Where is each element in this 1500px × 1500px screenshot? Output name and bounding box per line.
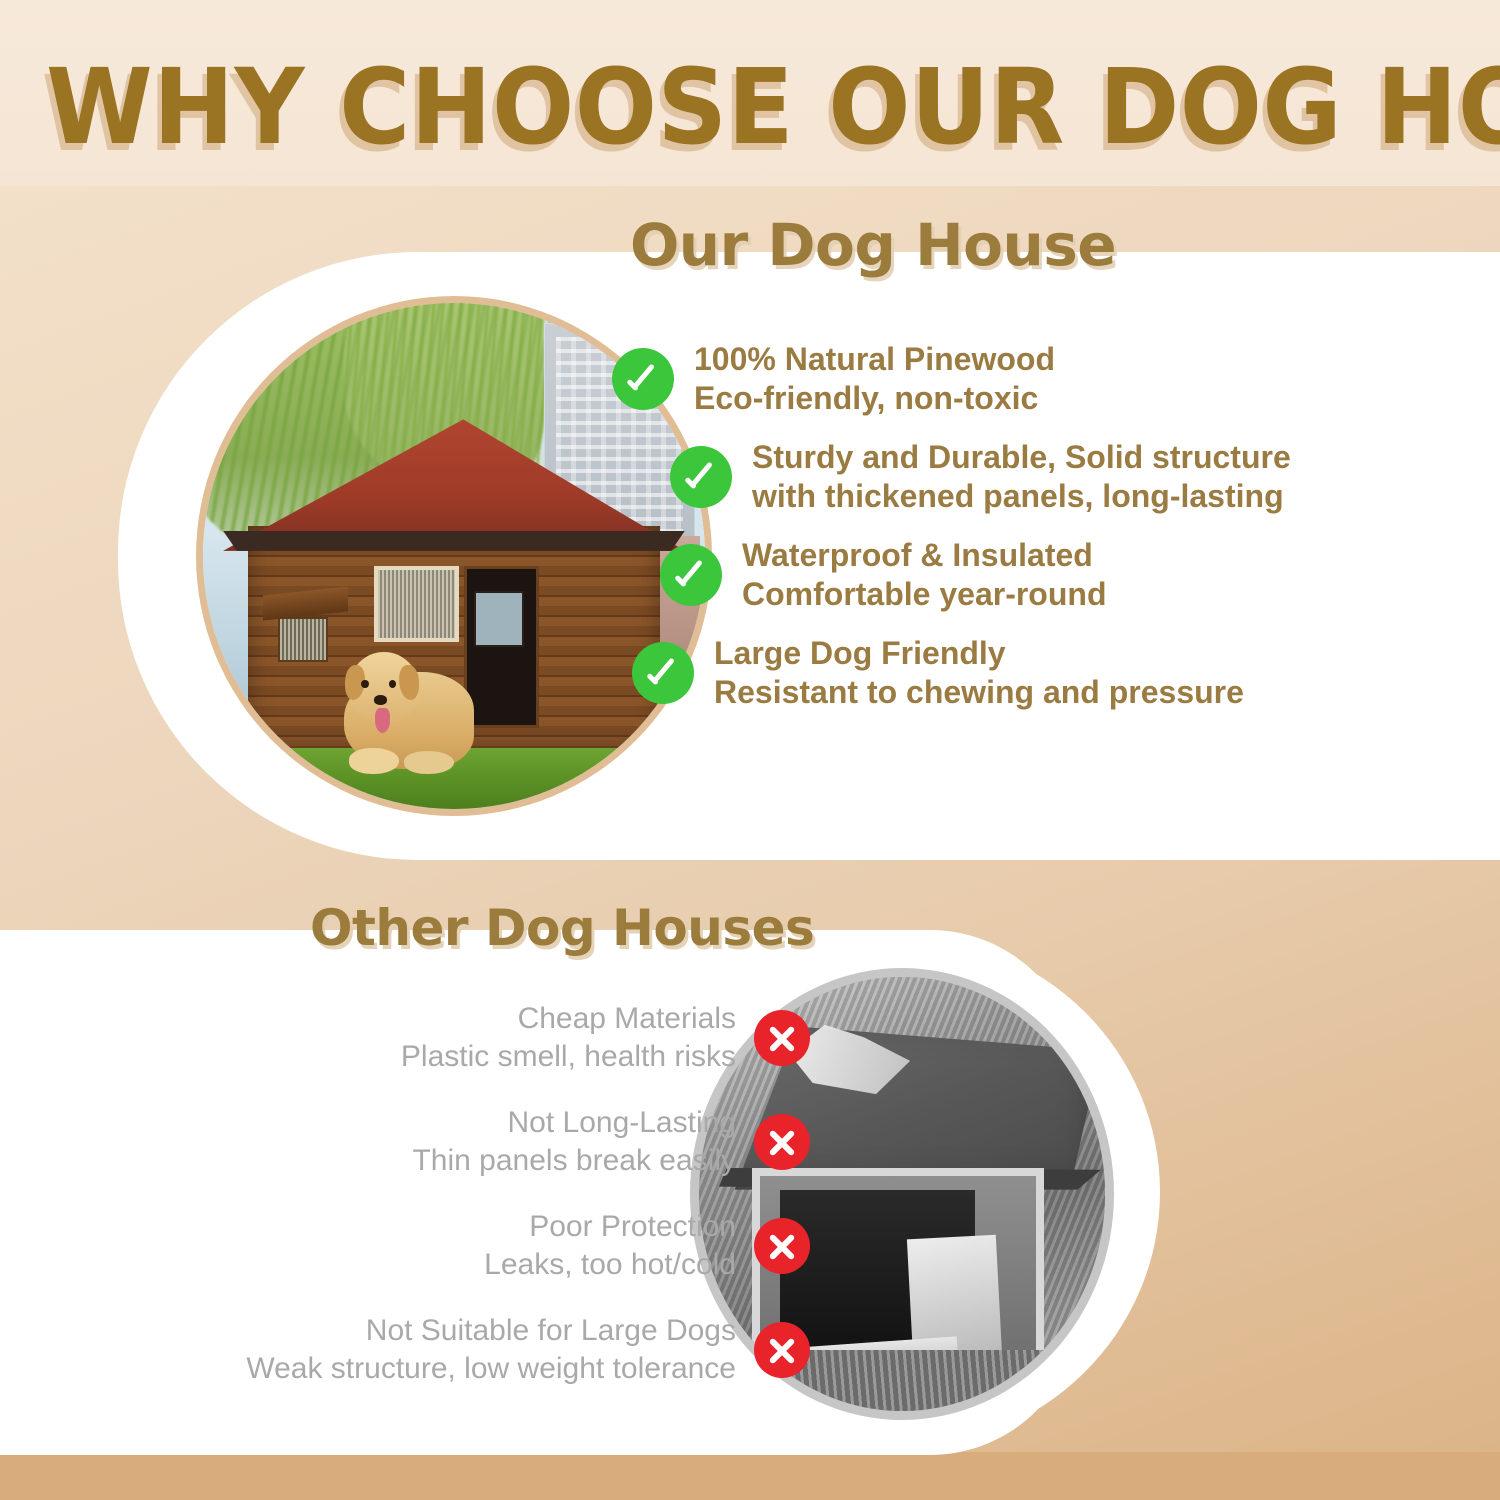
drawback-line-1: Not Long-Lasting	[412, 1104, 736, 1142]
feature-text: Large Dog Friendly Resistant to chewing …	[714, 634, 1244, 712]
check-circle-icon	[660, 544, 722, 606]
our-features-list: 100% Natural Pinewood Eco-friendly, non-…	[612, 340, 1492, 732]
feature-text: 100% Natural Pinewood Eco-friendly, non-…	[694, 340, 1055, 418]
drawback-line-1: Poor Protection	[484, 1208, 736, 1246]
drawback-line-2: Thin panels break easily	[412, 1142, 736, 1180]
feature-row: 100% Natural Pinewood Eco-friendly, non-…	[612, 340, 1492, 418]
feature-row: Sturdy and Durable, Solid structure with…	[670, 438, 1492, 516]
photo-side-window	[278, 617, 328, 663]
feature-row: Waterproof & Insulated Comfortable year-…	[660, 536, 1492, 614]
title-banner: WHY CHOOSE OUR DOG HOUSE?"	[0, 48, 1500, 166]
feature-text: Waterproof & Insulated Comfortable year-…	[742, 536, 1106, 614]
photo-dog-nose	[374, 695, 387, 705]
drawback-row: Not Suitable for Large Dogs Weak structu…	[120, 1312, 810, 1388]
feature-line-2: Comfortable year-round	[742, 575, 1106, 614]
drawback-text: Cheap Materials Plastic smell, health ri…	[401, 1000, 736, 1076]
drawback-row: Not Long-Lasting Thin panels break easil…	[120, 1104, 810, 1180]
drawback-row: Cheap Materials Plastic smell, health ri…	[120, 1000, 810, 1076]
cross-circle-icon	[754, 1322, 810, 1378]
feature-line-1: Large Dog Friendly	[714, 634, 1244, 673]
photo-mesh-window	[374, 566, 459, 642]
drawback-row: Poor Protection Leaks, too hot/cold	[120, 1208, 810, 1284]
check-circle-icon	[670, 446, 732, 508]
feature-line-1: Waterproof & Insulated	[742, 536, 1106, 575]
check-circle-icon	[632, 642, 694, 704]
cross-circle-icon	[754, 1010, 810, 1066]
feature-line-2: Resistant to chewing and pressure	[714, 673, 1244, 712]
photo-dog-tongue	[375, 708, 390, 733]
drawback-text: Not Long-Lasting Thin panels break easil…	[412, 1104, 736, 1180]
drawback-line-2: Plastic smell, health risks	[401, 1038, 736, 1076]
photo-dog-leg-right	[404, 751, 454, 774]
other-drawbacks-list: Cheap Materials Plastic smell, health ri…	[120, 1000, 810, 1416]
cross-circle-icon	[754, 1218, 810, 1274]
feature-text: Sturdy and Durable, Solid structure with…	[752, 438, 1291, 516]
drawback-text: Poor Protection Leaks, too hot/cold	[484, 1208, 736, 1284]
feature-line-1: Sturdy and Durable, Solid structure	[752, 438, 1291, 477]
photo-dog-eye-left	[361, 680, 369, 688]
feature-line-1: 100% Natural Pinewood	[694, 340, 1055, 379]
photo-dog-leg-left	[349, 748, 399, 773]
drawback-line-2: Weak structure, low weight tolerance	[246, 1350, 736, 1388]
other-section-heading: Other Dog Houses	[310, 900, 814, 956]
background-band-bottom	[0, 1452, 1500, 1500]
drawback-text: Not Suitable for Large Dogs Weak structu…	[246, 1312, 736, 1388]
photo-door-window	[474, 591, 524, 647]
check-circle-icon	[612, 348, 674, 410]
page-title: WHY CHOOSE OUR DOG HOUSE?"	[46, 48, 1367, 166]
feature-row: Large Dog Friendly Resistant to chewing …	[632, 634, 1492, 712]
photo-door	[464, 566, 539, 728]
feature-line-2: with thickened panels, long-lasting	[752, 477, 1291, 516]
drawback-line-2: Leaks, too hot/cold	[484, 1246, 736, 1284]
cross-circle-icon	[754, 1114, 810, 1170]
feature-line-2: Eco-friendly, non-toxic	[694, 379, 1055, 418]
drawback-line-1: Not Suitable for Large Dogs	[246, 1312, 736, 1350]
infographic-root: WHY CHOOSE OUR DOG HOUSE?" Our Dog House	[0, 0, 1500, 1500]
drawback-line-1: Cheap Materials	[401, 1000, 736, 1038]
our-section-heading: Our Dog House	[630, 214, 1116, 276]
